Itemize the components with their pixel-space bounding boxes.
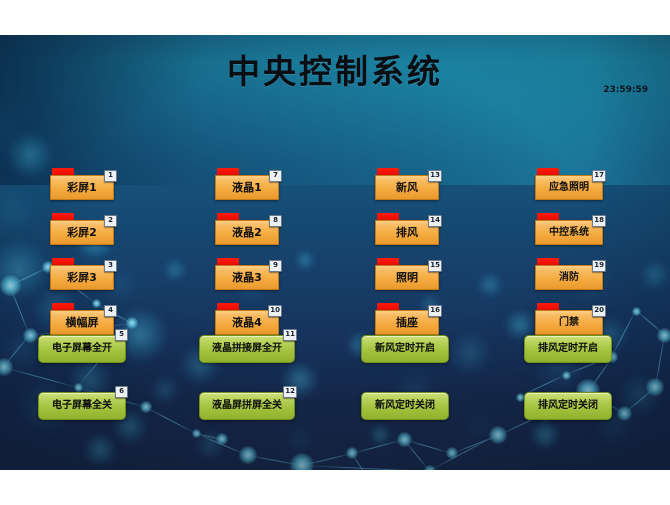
folder-index-badge: 16 (428, 305, 442, 317)
folder-index-badge: 19 (592, 260, 606, 272)
clock-readout: 23:59:59 (603, 85, 648, 95)
folder-label: 彩屏1 (67, 182, 97, 193)
action-button[interactable]: 新风定时关闭 (361, 392, 449, 420)
folder-button[interactable]: 应急照明17 (535, 168, 601, 198)
folder-index-badge: 9 (269, 260, 282, 272)
folder-index-badge: 7 (269, 170, 282, 182)
folder-button[interactable]: 彩屏33 (50, 258, 112, 288)
action-button-label: 电子屏幕全开 (52, 344, 112, 354)
action-index-badge: 11 (283, 329, 297, 341)
folder-index-badge: 8 (269, 215, 282, 227)
action-button[interactable]: 液晶屏拼屏全关12 (199, 392, 295, 420)
folder-button[interactable]: 排风14 (375, 213, 437, 243)
folder-button[interactable]: 液晶17 (215, 168, 277, 198)
folder-button[interactable]: 彩屏11 (50, 168, 112, 198)
folder-label: 彩屏2 (67, 227, 97, 238)
action-button[interactable]: 液晶拼接屏全开11 (199, 335, 295, 363)
folder-index-badge: 10 (268, 305, 282, 317)
action-index-badge: 5 (115, 329, 128, 341)
action-button-label: 排风定时开启 (538, 344, 598, 354)
folder-label: 横幅屏 (66, 317, 99, 328)
folder-label: 液晶3 (232, 272, 262, 283)
screenshot-root: 中央控制系统 23:59:59 彩屏11彩屏22彩屏33横幅屏4液晶17液晶28… (0, 0, 670, 505)
folder-button[interactable]: 消防19 (535, 258, 601, 288)
action-index-badge: 6 (115, 386, 128, 398)
action-index-badge: 12 (283, 386, 297, 398)
folder-label: 门禁 (559, 318, 579, 328)
folder-label: 液晶2 (232, 227, 262, 238)
folder-index-badge: 4 (104, 305, 117, 317)
action-button-label: 新风定时关闭 (375, 401, 435, 411)
folder-button[interactable]: 中控系统18 (535, 213, 601, 243)
folder-index-badge: 20 (592, 305, 606, 317)
action-button[interactable]: 新风定时开启 (361, 335, 449, 363)
folder-index-badge: 3 (104, 260, 117, 272)
action-button[interactable]: 排风定时关闭 (524, 392, 612, 420)
folder-label: 彩屏3 (67, 272, 97, 283)
action-button[interactable]: 电子屏幕全开5 (38, 335, 126, 363)
action-button[interactable]: 排风定时开启 (524, 335, 612, 363)
action-button-label: 液晶屏拼屏全关 (212, 401, 282, 411)
folder-button[interactable]: 门禁20 (535, 303, 601, 333)
folder-index-badge: 1 (104, 170, 117, 182)
folder-index-badge: 18 (592, 215, 606, 227)
folder-label: 插座 (396, 317, 418, 328)
action-button-label: 电子屏幕全关 (52, 401, 112, 411)
folder-button[interactable]: 照明15 (375, 258, 437, 288)
folder-button[interactable]: 彩屏22 (50, 213, 112, 243)
folder-label: 液晶1 (232, 182, 262, 193)
folder-button[interactable]: 液晶28 (215, 213, 277, 243)
folder-label: 照明 (396, 272, 418, 283)
folder-index-badge: 13 (428, 170, 442, 182)
folder-index-badge: 14 (428, 215, 442, 227)
folder-label: 排风 (396, 227, 418, 238)
action-button[interactable]: 电子屏幕全关6 (38, 392, 126, 420)
folder-index-badge: 17 (592, 170, 606, 182)
folder-index-badge: 15 (428, 260, 442, 272)
folder-label: 应急照明 (549, 183, 589, 193)
action-button-label: 新风定时开启 (375, 344, 435, 354)
folder-label: 新风 (396, 182, 418, 193)
folder-label: 液晶4 (232, 317, 262, 328)
action-button-label: 排风定时关闭 (538, 401, 598, 411)
folder-button[interactable]: 新风13 (375, 168, 437, 198)
page-title: 中央控制系统 (0, 45, 670, 93)
control-panel-display: 中央控制系统 23:59:59 彩屏11彩屏22彩屏33横幅屏4液晶17液晶28… (0, 35, 670, 470)
action-button-label: 液晶拼接屏全开 (212, 344, 282, 354)
folder-label: 消防 (559, 273, 579, 283)
folder-button[interactable]: 液晶39 (215, 258, 277, 288)
folder-label: 中控系统 (549, 228, 589, 238)
folder-button[interactable]: 横幅屏4 (50, 303, 112, 333)
folder-button[interactable]: 插座16 (375, 303, 437, 333)
folder-index-badge: 2 (104, 215, 117, 227)
folder-button[interactable]: 液晶410 (215, 303, 277, 333)
